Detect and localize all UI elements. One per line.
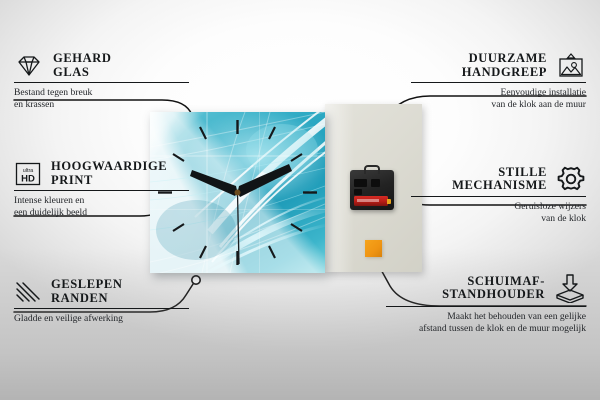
feature-desc-line2: en krassen xyxy=(14,99,189,110)
gear-icon xyxy=(556,165,586,193)
feature-title-line1: GEHARD xyxy=(53,52,111,66)
feature-title-line1: GESLEPEN xyxy=(51,278,123,292)
feature-foam-spacer: SCHUIMAF- STANDHOUDER Maakt het behouden… xyxy=(386,273,586,334)
diagonal-lines-icon xyxy=(14,280,42,304)
hour-hand xyxy=(190,170,238,196)
feature-desc-line1: Eenvoudige installatie xyxy=(411,87,586,98)
feature-title-line1: STILLE xyxy=(452,166,547,180)
feature-title-line2: HANDGREEP xyxy=(462,66,547,80)
feature-title-line2: MECHANISME xyxy=(452,179,547,193)
feature-desc-line2: een duidelijk beeld xyxy=(14,207,189,218)
feature-desc-line1: Geruisloze wijzers xyxy=(411,201,586,212)
feature-desc-line1: Gladde en veilige afwerking xyxy=(14,313,189,324)
press-down-pad-icon xyxy=(554,273,586,303)
feature-desc-line1: Maakt het behouden van een gelijke xyxy=(386,311,586,322)
feature-desc-line1: Intense kleuren en xyxy=(14,195,189,206)
feature-rule xyxy=(386,306,586,307)
infographic-canvas: GEHARD GLAS Bestand tegen breuk en krass… xyxy=(0,0,600,400)
mechanism-hanger xyxy=(364,165,380,174)
connector-dot-edges xyxy=(192,276,200,284)
feature-title-line2: STANDHOUDER xyxy=(442,288,545,302)
feature-title-line1: DUURZAME xyxy=(462,52,547,66)
clock-center-cap xyxy=(235,190,241,196)
feature-desc-line1: Bestand tegen breuk xyxy=(14,87,189,98)
aa-battery xyxy=(354,196,388,206)
feature-title-line2: RANDEN xyxy=(51,292,123,306)
framed-picture-icon xyxy=(556,53,586,79)
feature-high-quality-print: ultra HD HOOGWAARDIGE PRINT Intense kleu… xyxy=(14,160,189,218)
feature-title-line2: GLAS xyxy=(53,66,111,80)
clock-mechanism xyxy=(350,170,394,210)
feature-desc-line2: van de klok aan de muur xyxy=(411,99,586,110)
feature-rule xyxy=(14,308,189,309)
feature-tempered-glass: GEHARD GLAS Bestand tegen breuk en krass… xyxy=(14,52,189,110)
feature-silent-mechanism: STILLE MECHANISME Geruisloze wijzers van… xyxy=(411,165,586,224)
minute-hand xyxy=(238,164,293,197)
feature-polished-edges: GESLEPEN RANDEN Gladde en veilige afwerk… xyxy=(14,278,189,325)
feature-rule xyxy=(14,82,189,83)
feature-durable-handle: DUURZAME HANDGREEP Eenvoudige installati… xyxy=(411,52,586,110)
feature-desc-line2: afstand tussen de klok en de muur mogeli… xyxy=(386,323,586,334)
feature-rule xyxy=(411,196,586,197)
feature-rule xyxy=(411,82,586,83)
foam-spacer-pad xyxy=(365,240,382,257)
ultra-hd-bottom-label: HD xyxy=(21,173,35,184)
feature-rule xyxy=(14,190,189,191)
ultra-hd-icon: ultra HD xyxy=(14,161,42,187)
feature-title-line2: PRINT xyxy=(51,174,167,188)
diamond-icon xyxy=(14,54,44,78)
second-hand xyxy=(238,193,240,265)
feature-title-line1: HOOGWAARDIGE xyxy=(51,160,167,174)
feature-desc-line2: van de klok xyxy=(411,213,586,224)
feature-title-line1: SCHUIMAF- xyxy=(442,275,545,289)
